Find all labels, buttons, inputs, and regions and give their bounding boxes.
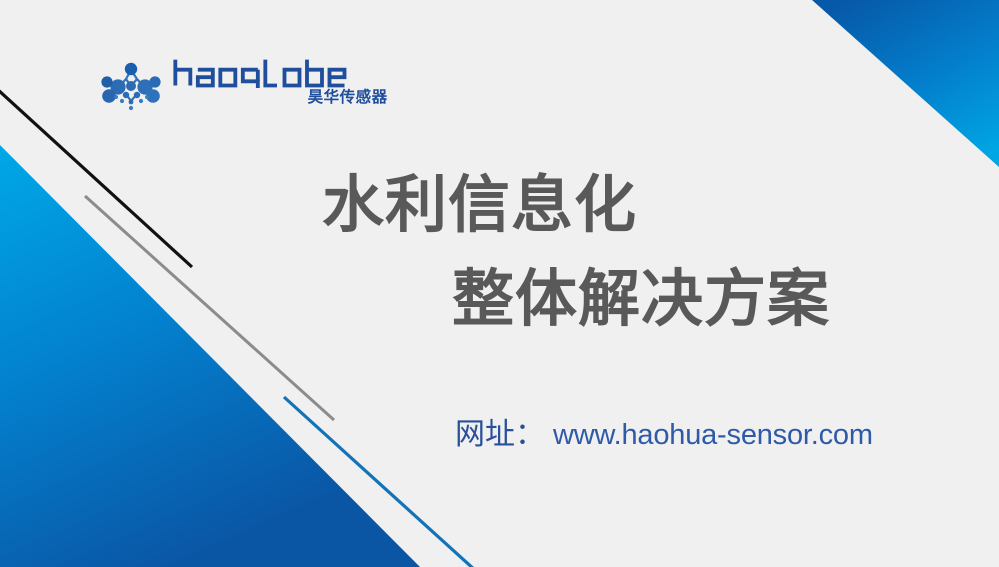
logo-text-group: 昊华传感器 — [172, 58, 389, 106]
logo-subtitle: 昊华传感器 — [308, 90, 388, 106]
website-label: 网址： — [455, 420, 545, 450]
presentation-slide: 昊华传感器 水利信息化 整体解决方案 网址： www.haohua-sensor… — [0, 0, 999, 567]
website-url[interactable]: www.haohua-sensor.com — [553, 421, 873, 450]
website-line: 网址： www.haohua-sensor.com — [455, 420, 873, 450]
haoglobe-wordmark-icon — [172, 58, 389, 88]
haoglobe-network-dots-icon — [96, 61, 166, 113]
company-logo: 昊华传感器 — [96, 58, 321, 116]
